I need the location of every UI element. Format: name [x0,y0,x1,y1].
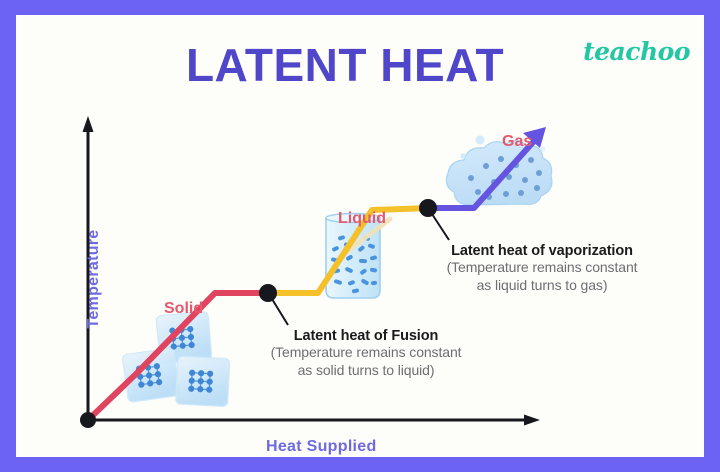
fusion-leader-line [272,299,288,325]
y-axis-label: Temperature [85,199,103,359]
origin-dot [80,412,96,428]
vaporization-dot [419,199,437,217]
poster-border: LATENT HEAT teachoo [0,0,720,472]
phase-label-solid: Solid [164,300,203,318]
gas-cloud-illustration [446,136,551,206]
annotation-fusion-line2: as solid turns to liquid) [238,362,494,380]
axis-x [88,415,540,426]
phase-label-liquid: Liquid [338,210,386,228]
annotation-fusion-line1: (Temperature remains constant [238,344,494,362]
annotation-vaporization-heading: Latent heat of vaporization [406,243,678,259]
annotation-fusion-heading: Latent heat of Fusion [238,328,494,344]
poster-card: LATENT HEAT teachoo [16,15,704,457]
phase-label-gas: Gas [502,133,532,151]
annotation-vaporization-line2: as liquid turns to gas) [406,277,678,295]
fusion-dot [259,284,277,302]
ice-cubes-illustration [122,311,230,406]
annotation-latent-heat-vaporization: Latent heat of vaporization (Temperature… [406,243,678,294]
heating-curve-chart [16,15,704,457]
annotation-vaporization-line1: (Temperature remains constant [406,259,678,277]
vaporization-leader-line [432,214,449,240]
x-axis-label: Heat Supplied [266,438,377,456]
annotation-latent-heat-fusion: Latent heat of Fusion (Temperature remai… [238,328,494,379]
